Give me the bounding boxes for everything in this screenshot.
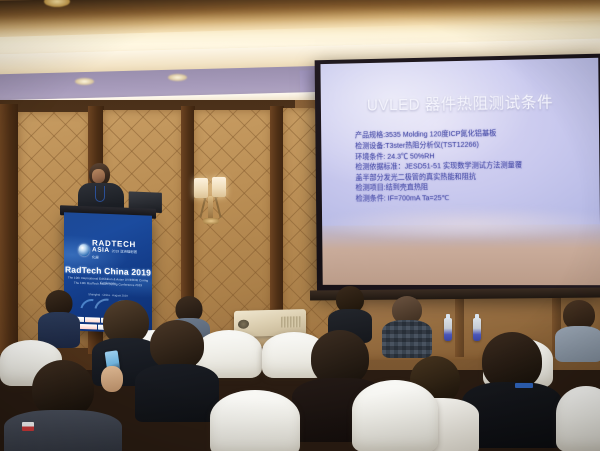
sconce-shade-left (194, 178, 208, 198)
attendee-body (555, 326, 600, 362)
attendee-head (150, 320, 204, 370)
speaker-face (92, 169, 105, 183)
attendee-body (382, 320, 432, 358)
attendee-body (135, 364, 219, 422)
attendee-plaid-shirt (386, 296, 428, 354)
slide-line: 检测条件: IF=700mA Ta=25℃ (356, 192, 596, 205)
chair[interactable] (556, 386, 600, 451)
downlight-icon (75, 78, 94, 85)
chair[interactable] (352, 380, 438, 451)
radtech-logo: RADTECH ASIA 2019 亚洲辐射固化展 (78, 239, 137, 262)
downlight-icon (168, 74, 187, 81)
chair[interactable] (210, 390, 300, 451)
sconce-shade-right (212, 177, 226, 197)
conference-room-photo: UVLED 器件热阻测试条件 产品规格:3535 Molding 120度ICP… (0, 0, 600, 451)
wall-pilaster (0, 104, 18, 354)
attendee (140, 320, 214, 420)
globe-icon (78, 243, 89, 255)
slide-body: 产品规格:3535 Molding 120度ICP氮化铝基板 检测设备:T3st… (355, 127, 595, 204)
slide-title: UVLED 器件热阻测试条件 (367, 90, 585, 116)
sconce-base (203, 218, 219, 224)
badge-icon (22, 422, 34, 431)
attendee-with-lanyard (470, 332, 554, 446)
screen-surface: UVLED 器件热阻测试条件 产品规格:3535 Molding 120度ICP… (320, 58, 600, 285)
lanyard-icon (515, 383, 533, 388)
lanyard-icon (95, 186, 105, 202)
logo-sub-text: ASIA (92, 246, 109, 254)
projector-lens-icon (238, 320, 249, 329)
attendee (40, 290, 78, 346)
screen-lower-shadow (322, 224, 600, 285)
attendee-foreground (18, 360, 108, 451)
sponsor-logo (78, 324, 97, 330)
water-bottle[interactable] (444, 318, 452, 341)
projector-vent (281, 316, 301, 328)
attendee (556, 300, 600, 360)
projection-screen[interactable]: UVLED 器件热阻测试条件 产品规格:3535 Molding 120度ICP… (315, 54, 600, 296)
